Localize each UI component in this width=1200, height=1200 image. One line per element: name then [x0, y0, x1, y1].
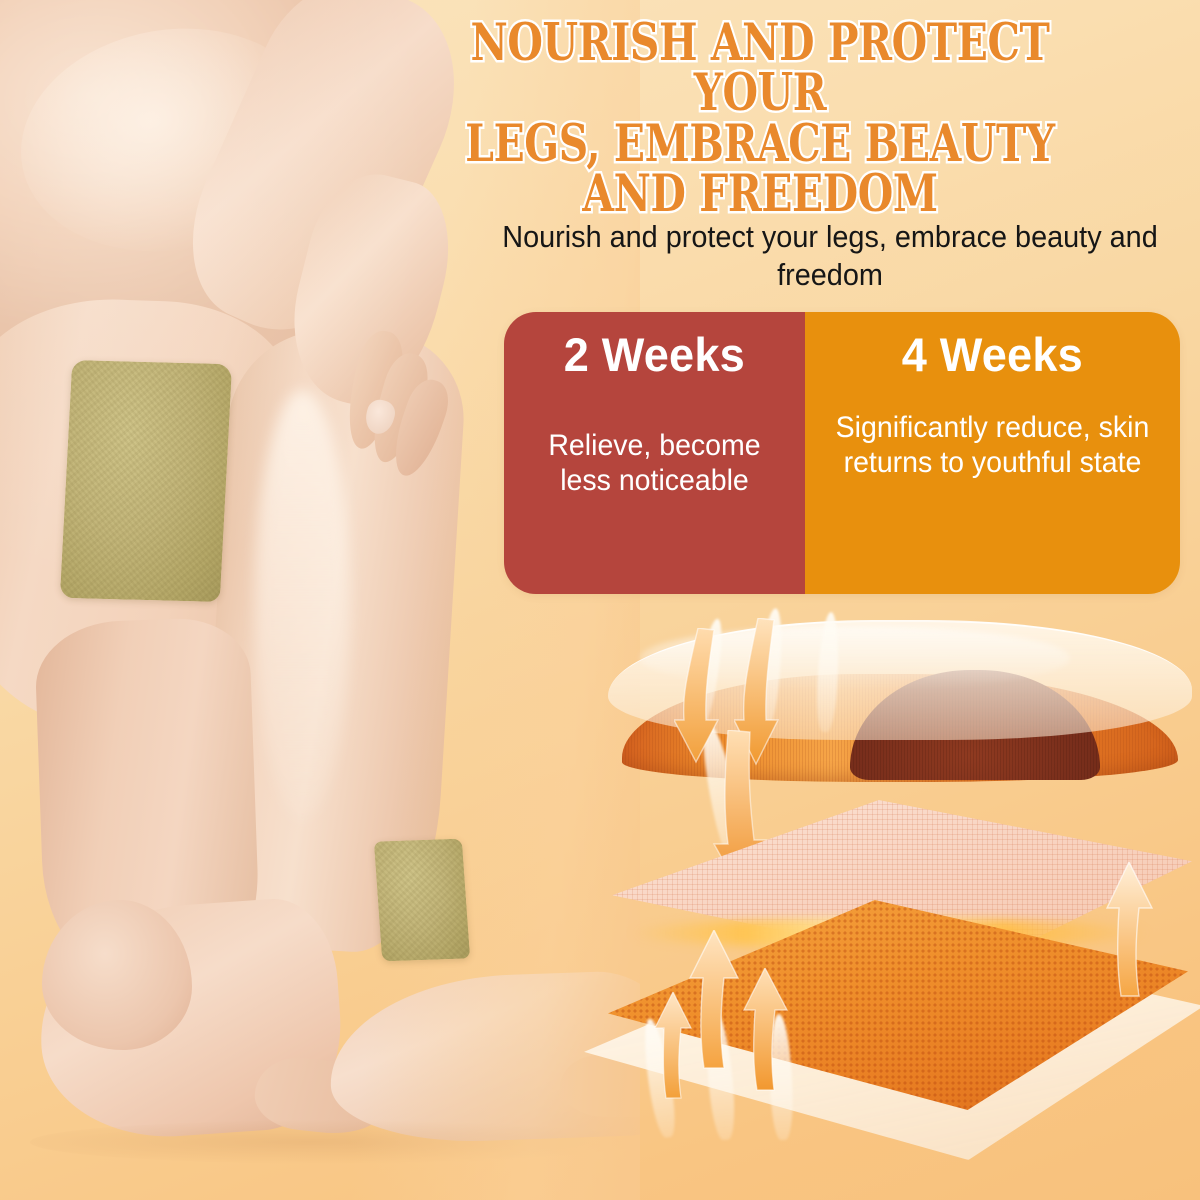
patch-layer-diagram [590, 600, 1200, 1120]
timeline-result-card: 2 Weeks Relieve, become less noticeable … [504, 312, 1180, 594]
result-title-4-weeks: 4 Weeks [902, 330, 1083, 380]
page-subtitle: Nourish and protect your legs, embrace b… [495, 218, 1165, 294]
arrow-up-icon [1102, 862, 1158, 998]
result-description-2-weeks: Relieve, become less noticeable [521, 428, 788, 499]
arrow-up-icon [740, 968, 792, 1092]
page-headline: NOURISH AND PROTECT YOUR LEGS, EMBRACE B… [416, 18, 1104, 220]
product-banner: NOURISH AND PROTECT YOUR LEGS, EMBRACE B… [0, 0, 1200, 1200]
herbal-patch-calf [60, 360, 232, 602]
ground-shadow [30, 1120, 640, 1164]
arrow-up-icon [652, 992, 696, 1100]
result-title-2-weeks: 2 Weeks [564, 330, 745, 380]
shin-highlight [255, 390, 350, 820]
result-description-4-weeks: Significantly reduce, skin returns to yo… [824, 410, 1161, 481]
result-column-2-weeks: 2 Weeks Relieve, become less noticeable [504, 312, 805, 594]
herbal-patch-ankle [374, 839, 470, 962]
result-column-4-weeks: 4 Weeks Significantly reduce, skin retur… [805, 312, 1180, 594]
